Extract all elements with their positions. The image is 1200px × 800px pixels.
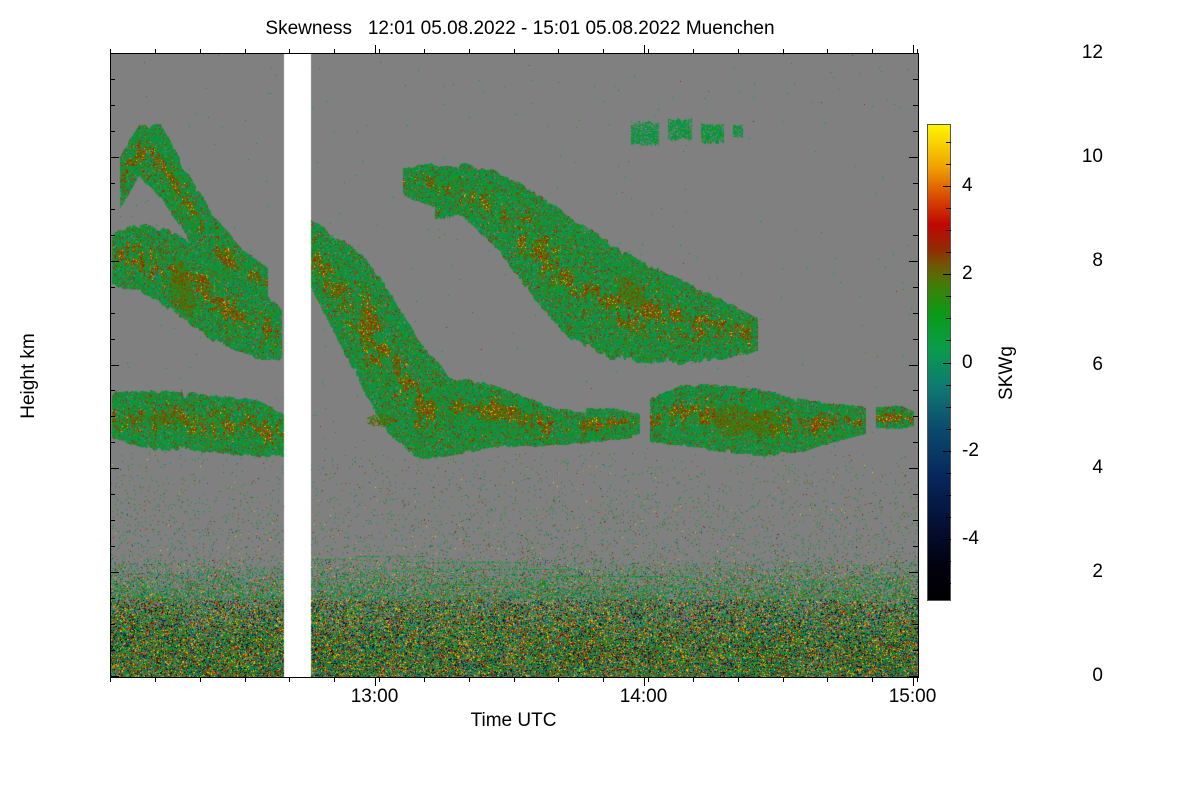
- colorbar-tick-minor: [946, 407, 951, 408]
- colorbar-tick-label: 2: [962, 263, 973, 285]
- y-tick-minor: [110, 624, 115, 625]
- y-tick-major: [110, 572, 119, 573]
- y-tick-minor-right: [913, 313, 918, 314]
- x-tick-major: [913, 677, 914, 686]
- y-tick-minor: [110, 546, 115, 547]
- y-tick-major-right: [909, 572, 918, 573]
- y-tick-minor-right: [913, 494, 918, 495]
- y-tick-major-right: [909, 157, 918, 158]
- colorbar-tick-major: [943, 186, 951, 187]
- x-tick-minor: [200, 677, 201, 682]
- x-tick-major-top: [644, 45, 645, 54]
- colorbar-tick-minor: [946, 561, 951, 562]
- x-tick-minor-top: [558, 49, 559, 54]
- colorbar-tick-major: [943, 363, 951, 364]
- colorbar-tick-label: -4: [962, 528, 979, 550]
- y-tick-major: [110, 365, 119, 366]
- y-tick-minor: [110, 183, 115, 184]
- y-tick-minor: [110, 313, 115, 314]
- y-tick-minor: [110, 339, 115, 340]
- x-tick-minor-top: [110, 49, 111, 54]
- y-tick-minor: [110, 520, 115, 521]
- x-tick-major: [375, 677, 376, 686]
- y-tick-major-right: [909, 468, 918, 469]
- y-tick-minor-right: [913, 624, 918, 625]
- x-tick-minor-top: [514, 49, 515, 54]
- y-tick-label: 12: [1082, 42, 1103, 64]
- colorbar-tick-minor: [946, 208, 951, 209]
- x-tick-minor-top: [872, 49, 873, 54]
- colorbar-tick-major: [943, 451, 951, 452]
- y-tick-major: [110, 53, 119, 54]
- y-tick-minor: [110, 131, 115, 132]
- x-tick-minor: [648, 677, 649, 682]
- heatmap-canvas[interactable]: [111, 54, 918, 677]
- colorbar-tick-minor: [946, 340, 951, 341]
- colorbar-title: SKWg: [996, 313, 1018, 433]
- y-tick-minor-right: [913, 442, 918, 443]
- colorbar-tick-label: 4: [962, 175, 973, 197]
- skewness-time-height-plot: Skewness 12:01 05.08.2022 - 15:01 05.08.…: [0, 0, 1200, 800]
- colorbar-tick-minor: [946, 142, 951, 143]
- y-tick-minor: [110, 209, 115, 210]
- y-tick-major: [110, 468, 119, 469]
- y-tick-minor-right: [913, 79, 918, 80]
- x-tick-minor-top: [603, 49, 604, 54]
- colorbar-tick-minor: [946, 429, 951, 430]
- colorbar-tick-minor: [946, 164, 951, 165]
- x-tick-minor-top: [469, 49, 470, 54]
- y-tick-minor: [110, 235, 115, 236]
- y-tick-minor: [110, 598, 115, 599]
- colorbar-tick-minor: [946, 473, 951, 474]
- x-tick-minor: [245, 677, 246, 682]
- x-tick-minor-top: [738, 49, 739, 54]
- x-tick-minor: [738, 677, 739, 682]
- y-axis: Height km: [0, 0, 110, 800]
- y-axis-title: Height km: [18, 306, 40, 446]
- y-tick-minor: [110, 442, 115, 443]
- x-tick-minor-top: [245, 49, 246, 54]
- y-tick-minor-right: [913, 105, 918, 106]
- y-tick-minor-right: [913, 287, 918, 288]
- x-tick-major-top: [913, 45, 914, 54]
- y-tick-minor: [110, 105, 115, 106]
- x-tick-minor: [603, 677, 604, 682]
- x-tick-minor-top: [783, 49, 784, 54]
- x-tick-minor-top: [200, 49, 201, 54]
- y-tick-minor-right: [913, 598, 918, 599]
- x-tick-label: 13:00: [351, 686, 399, 708]
- page-title: Skewness 12:01 05.08.2022 - 15:01 05.08.…: [0, 18, 1040, 40]
- x-tick-minor: [872, 677, 873, 682]
- y-tick-minor-right: [913, 209, 918, 210]
- x-tick-major: [644, 677, 645, 686]
- y-tick-minor-right: [913, 235, 918, 236]
- colorbar-tick-minor: [946, 583, 951, 584]
- y-tick-label: 6: [1092, 354, 1103, 376]
- x-tick-minor-top: [289, 49, 290, 54]
- x-tick-label: 14:00: [620, 686, 668, 708]
- y-tick-minor-right: [913, 183, 918, 184]
- x-tick-minor: [469, 677, 470, 682]
- x-tick-minor-top: [827, 49, 828, 54]
- y-tick-minor-right: [913, 131, 918, 132]
- y-tick-minor: [110, 416, 115, 417]
- colorbar-tick-minor: [946, 517, 951, 518]
- x-tick-minor: [155, 677, 156, 682]
- y-tick-minor-right: [913, 339, 918, 340]
- y-tick-minor: [110, 650, 115, 651]
- y-tick-major-right: [909, 365, 918, 366]
- x-tick-minor: [693, 677, 694, 682]
- y-tick-minor: [110, 79, 115, 80]
- y-tick-major: [110, 261, 119, 262]
- colorbar-tick-minor: [946, 252, 951, 253]
- colorbar-tick-minor: [946, 495, 951, 496]
- x-tick-minor: [827, 677, 828, 682]
- colorbar-tick-minor: [946, 296, 951, 297]
- x-tick-minor: [558, 677, 559, 682]
- y-tick-minor: [110, 287, 115, 288]
- y-tick-minor-right: [913, 546, 918, 547]
- x-tick-minor-top: [424, 49, 425, 54]
- y-tick-minor-right: [913, 650, 918, 651]
- y-tick-label: 8: [1092, 250, 1103, 272]
- y-tick-label: 4: [1092, 457, 1103, 479]
- x-tick-minor-top: [155, 49, 156, 54]
- y-tick-major-right: [909, 261, 918, 262]
- x-tick-minor: [289, 677, 290, 682]
- colorbar-tick-minor: [946, 385, 951, 386]
- x-tick-minor-top: [648, 49, 649, 54]
- colorbar-tick-major: [943, 539, 951, 540]
- x-tick-minor: [917, 677, 918, 682]
- x-tick-label: 15:00: [889, 686, 937, 708]
- x-tick-minor: [424, 677, 425, 682]
- colorbar-tick-label: 0: [962, 352, 973, 374]
- y-tick-label: 2: [1092, 561, 1103, 583]
- x-tick-minor-top: [693, 49, 694, 54]
- colorbar-tick-major: [943, 274, 951, 275]
- y-tick-minor-right: [913, 520, 918, 521]
- colorbar-tick-label: -2: [962, 440, 979, 462]
- plot-area[interactable]: [110, 53, 919, 678]
- colorbar-tick-minor: [946, 230, 951, 231]
- x-axis-title: Time UTC: [110, 710, 917, 732]
- y-tick-minor: [110, 390, 115, 391]
- x-tick-minor: [514, 677, 515, 682]
- x-tick-minor: [334, 677, 335, 682]
- x-tick-minor-top: [379, 49, 380, 54]
- x-tick-minor: [379, 677, 380, 682]
- y-tick-minor-right: [913, 416, 918, 417]
- y-tick-label: 10: [1082, 146, 1103, 168]
- colorbar-tick-minor: [946, 318, 951, 319]
- y-tick-minor-right: [913, 390, 918, 391]
- y-tick-label: 0: [1092, 665, 1103, 687]
- y-tick-major: [110, 157, 119, 158]
- x-tick-minor-top: [917, 49, 918, 54]
- y-tick-major: [110, 676, 119, 677]
- y-tick-minor: [110, 494, 115, 495]
- x-tick-minor: [783, 677, 784, 682]
- x-tick-minor-top: [334, 49, 335, 54]
- x-tick-minor: [110, 677, 111, 682]
- x-tick-major-top: [375, 45, 376, 54]
